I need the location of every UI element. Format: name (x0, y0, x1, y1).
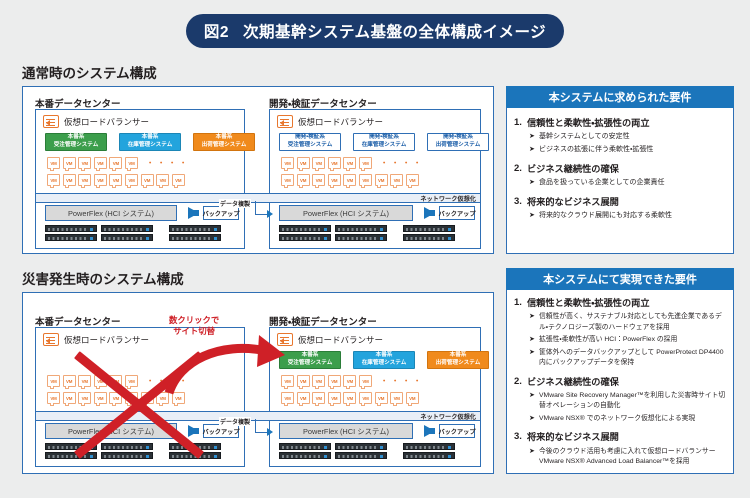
vm-instance: VM (281, 157, 294, 169)
requirement-subitem-text: 拡張性・柔軟性が高い HCI：PowerFlex の採用 (539, 335, 677, 346)
bullet-arrow-icon: ➤ (529, 178, 539, 189)
vm-instance: VM (281, 174, 294, 186)
requirement-subitem: ➤VMware Site Recovery Manager™を利用した災害時サイ… (527, 391, 726, 411)
section-heading-disaster: 災害発生時のシステム構成 (22, 268, 184, 288)
vm-instance: VM (406, 174, 419, 186)
load-balancer-icon (43, 333, 59, 346)
system-box-line2: 出荷管理システム (436, 142, 481, 150)
vm-instance: VM (156, 174, 169, 186)
server-rack-group (403, 225, 455, 241)
requirement-item: 1.信頼性と柔軟性・拡張性の両立➤基幹システムとしての安定性➤ビジネスの拡張に伴… (514, 117, 726, 156)
requirement-subitem: ➤信頼性が高く、サステナブル対応としても先進企業であるデル・テクノロジーズ製のハ… (527, 312, 726, 332)
vm-instance: VM (343, 392, 356, 404)
vm-instance: VM (312, 375, 325, 387)
server-rack-group (101, 443, 153, 459)
requirement-content: ビジネス継続性の確保➤VMware Site Recovery Manager™… (527, 376, 726, 425)
server-rack-unit (101, 452, 153, 459)
vm-instance: VM (63, 174, 76, 186)
vm-instance: VM (125, 392, 138, 404)
load-balancer-label: 仮想ロードバランサー (64, 116, 149, 128)
requirement-subitem-text: 筐体外へのデータバックアップとして PowerProtect DP4400 内に… (539, 348, 726, 368)
vm-instance: VM (297, 174, 310, 186)
achieved-requirements-heading: 本システムにて実現できた要件 (506, 268, 734, 290)
vm-overflow-dots: ・・・・ (380, 157, 424, 169)
load-balancer-label: 仮想ロードバランサー (298, 334, 383, 346)
server-rack-unit (403, 225, 455, 232)
vm-row: VMVMVMVMVMVMVMVMVM (47, 174, 187, 186)
vm-instance: VM (109, 174, 122, 186)
vm-instance: VM (328, 174, 341, 186)
system-box: 本番系出荷管理システム (193, 133, 255, 151)
server-rack-group (101, 225, 153, 241)
system-box-line2: 受注管理システム (288, 142, 333, 150)
requirement-item: 3.将来的なビジネス展開➤今後のクラウド活用も考慮に入れて仮想ロードバランサー … (514, 431, 726, 467)
system-box-line2: 在庫管理システム (362, 360, 407, 368)
requirement-item: 1.信頼性と柔軟性・拡張性の両立➤信頼性が高く、サステナブル対応としても先進企業… (514, 297, 726, 369)
system-box-line1: 開発・検証系 (295, 134, 325, 142)
data-replication-label: データ複製 (219, 199, 251, 208)
vm-instance: VM (78, 174, 91, 186)
server-rack-unit (169, 225, 221, 232)
data-replication-line (255, 419, 256, 433)
data-replication-label: データ複製 (219, 417, 251, 426)
vm-instance: VM (312, 157, 325, 169)
server-rack-unit (279, 234, 331, 241)
system-box: 開発・検証系受注管理システム (279, 133, 341, 151)
hci-box: PowerFlex (HCI システム) (279, 205, 413, 221)
server-rack-unit (169, 234, 221, 241)
vm-instance: VM (328, 392, 341, 404)
server-rack-group (279, 225, 331, 241)
requirement-item: 2.ビジネス継続性の確保➤食品を扱っている企業としての企業責任 (514, 163, 726, 189)
server-rack-unit (169, 452, 221, 459)
backup-arrow-icon (188, 207, 199, 219)
load-balancer-row: 仮想ロードバランサー (43, 115, 149, 128)
required-requirements-body: 1.信頼性と柔軟性・拡張性の両立➤基幹システムとしての安定性➤ビジネスの拡張に伴… (506, 108, 734, 254)
server-rack-group (335, 225, 387, 241)
requirement-number: 3. (514, 196, 527, 222)
requirement-subitem: ➤拡張性・柔軟性が高い HCI：PowerFlex の採用 (527, 335, 726, 346)
requirement-subitem-text: VMware Site Recovery Manager™を利用した災害時サイト… (539, 391, 726, 411)
vm-instance: VM (109, 375, 122, 387)
system-box-line1: 本番系 (216, 134, 233, 142)
load-balancer-label: 仮想ロードバランサー (298, 116, 383, 128)
backup-box: バックアップ (203, 424, 239, 438)
system-boxes-row: 開発・検証系受注管理システム開発・検証系在庫管理システム開発・検証系出荷管理シス… (279, 133, 489, 151)
vm-instance: VM (312, 392, 325, 404)
server-rack-unit (45, 225, 97, 232)
requirement-item: 3.将来的なビジネス展開➤将来的なクラウド展開にも対応する柔軟性 (514, 196, 726, 222)
vm-instance: VM (343, 174, 356, 186)
disaster-configuration-diagram: 本番データセンター仮想ロードバランサーVMVMVMVMVMVM・・・・VMVMV… (22, 292, 494, 474)
vm-overflow-dots: ・・・・ (380, 375, 424, 387)
vm-instance: VM (359, 174, 372, 186)
requirement-number: 1. (514, 117, 527, 156)
requirement-item: 2.ビジネス継続性の確保➤VMware Site Recovery Manage… (514, 376, 726, 425)
system-box-line1: 本番系 (450, 352, 467, 360)
vm-overflow-dots: ・・・・ (146, 157, 190, 169)
system-box-line2: 受注管理システム (54, 142, 99, 150)
load-balancer-icon (43, 115, 59, 128)
server-rack-unit (101, 225, 153, 232)
backup-box: バックアップ (439, 424, 475, 438)
requirement-subitem: ➤VMware NSX® でのネットワーク仮想化による実現 (527, 414, 726, 425)
vm-instance: VM (63, 392, 76, 404)
requirement-subitem-text: 信頼性が高く、サステナブル対応としても先進企業であるデル・テクノロジーズ製のハー… (539, 312, 726, 332)
system-box-line1: 開発・検証系 (369, 134, 399, 142)
system-box-line2: 出荷管理システム (436, 360, 481, 368)
required-requirements-heading: 本システムに求められた要件 (506, 86, 734, 108)
requirement-subitem-text: ビジネスの拡張に伴う柔軟性・拡張性 (539, 145, 653, 156)
vm-instance: VM (390, 174, 403, 186)
requirement-title: ビジネス継続性の確保 (527, 376, 726, 389)
requirement-subitem: ➤ビジネスの拡張に伴う柔軟性・拡張性 (527, 145, 726, 156)
vm-row: VMVMVMVMVMVM・・・・ (281, 375, 424, 387)
vm-instance: VM (406, 392, 419, 404)
server-rack-group (335, 443, 387, 459)
data-replication-arrow (267, 428, 273, 436)
vm-instance: VM (141, 174, 154, 186)
hci-box: PowerFlex (HCI システム) (279, 423, 413, 439)
system-box-line2: 受注管理システム (288, 360, 333, 368)
load-balancer-row: 仮想ロードバランサー (277, 115, 383, 128)
requirement-content: ビジネス継続性の確保➤食品を扱っている企業としての企業責任 (527, 163, 726, 189)
bullet-arrow-icon: ➤ (529, 447, 539, 467)
spacer (514, 224, 726, 229)
data-replication-arrow (267, 210, 273, 218)
vm-instance: VM (297, 392, 310, 404)
backup-box: バックアップ (439, 206, 475, 220)
requirement-subitem: ➤将来的なクラウド展開にも対応する柔軟性 (527, 211, 726, 222)
server-rack-group (45, 225, 97, 241)
system-box-line1: 本番系 (376, 352, 393, 360)
requirement-subitem: ➤今後のクラウド活用も考慮に入れて仮想ロードバランサー VMware NSX® … (527, 447, 726, 467)
bullet-arrow-icon: ➤ (529, 132, 539, 143)
vm-instance: VM (359, 392, 372, 404)
server-racks (45, 443, 221, 459)
vm-instance: VM (390, 392, 403, 404)
vm-instance: VM (328, 157, 341, 169)
server-rack-unit (403, 452, 455, 459)
required-requirements-panel: 本システムに求められた要件 1.信頼性と柔軟性・拡張性の両立➤基幹システムとして… (506, 86, 734, 254)
site-switch-arrow-icon (163, 331, 293, 395)
datacenter-title: 本番データセンター (35, 314, 121, 328)
vm-row: VMVMVMVMVMVM・・・・ (47, 157, 190, 169)
system-box-line1: 本番系 (68, 134, 85, 142)
requirement-title: 信頼性と柔軟性・拡張性の両立 (527, 117, 726, 130)
vm-instance: VM (375, 392, 388, 404)
backup-arrow-icon (424, 425, 435, 437)
achieved-requirements-panel: 本システムにて実現できた要件 1.信頼性と柔軟性・拡張性の両立➤信頼性が高く、サ… (506, 268, 734, 474)
system-box: 開発・検証系在庫管理システム (353, 133, 415, 151)
vm-row: VMVMVMVMVMVM・・・・ (281, 157, 424, 169)
vm-instance: VM (141, 392, 154, 404)
bullet-arrow-icon: ➤ (529, 145, 539, 156)
vm-instance: VM (47, 157, 60, 169)
server-rack-unit (279, 452, 331, 459)
datacenter-title: 開発・検証データセンター (269, 314, 377, 328)
requirement-subitem: ➤筐体外へのデータバックアップとして PowerProtect DP4400 内… (527, 348, 726, 368)
vm-instance: VM (47, 375, 60, 387)
system-box: 本番系在庫管理システム (353, 351, 415, 369)
server-rack-unit (45, 452, 97, 459)
system-box: 本番系出荷管理システム (427, 351, 489, 369)
requirement-content: 信頼性と柔軟性・拡張性の両立➤信頼性が高く、サステナブル対応としても先進企業であ… (527, 297, 726, 369)
bullet-arrow-icon: ➤ (529, 348, 539, 368)
bullet-arrow-icon: ➤ (529, 211, 539, 222)
bullet-arrow-icon: ➤ (529, 391, 539, 411)
system-boxes-row: 本番系受注管理システム本番系在庫管理システム本番系出荷管理システム (45, 133, 255, 151)
vm-instance: VM (343, 157, 356, 169)
requirement-number: 2. (514, 376, 527, 425)
requirement-subitem: ➤食品を扱っている企業としての企業責任 (527, 178, 726, 189)
figure-number: 図2 (204, 20, 229, 42)
server-rack-unit (403, 443, 455, 450)
data-replication-line (255, 201, 256, 215)
system-boxes-row: 本番系受注管理システム本番系在庫管理システム本番系出荷管理システム (279, 351, 489, 369)
vm-instance: VM (328, 375, 341, 387)
requirement-content: 将来的なビジネス展開➤将来的なクラウド展開にも対応する柔軟性 (527, 196, 726, 222)
vm-instance: VM (63, 157, 76, 169)
figure-title: 次期基幹システム基盤の全体構成イメージ (243, 20, 546, 42)
server-rack-unit (169, 443, 221, 450)
load-balancer-icon (277, 115, 293, 128)
normal-configuration-diagram: 本番データセンター仮想ロードバランサー本番系受注管理システム本番系在庫管理システ… (22, 86, 494, 254)
vm-instance: VM (94, 392, 107, 404)
vm-instance: VM (297, 375, 310, 387)
bullet-arrow-icon: ➤ (529, 335, 539, 346)
server-rack-group (45, 443, 97, 459)
vm-instance: VM (125, 375, 138, 387)
vm-instance: VM (297, 157, 310, 169)
load-balancer-label: 仮想ロードバランサー (64, 334, 149, 346)
requirement-title: ビジネス継続性の確保 (527, 163, 726, 176)
network-virtualization-bar: ネットワーク仮想化 (35, 411, 481, 421)
vm-instance: VM (47, 174, 60, 186)
server-rack-unit (335, 443, 387, 450)
vm-instance: VM (343, 375, 356, 387)
server-rack-unit (403, 234, 455, 241)
requirement-subitem-text: 基幹システムとしての安定性 (539, 132, 630, 143)
requirement-subitem-text: 今後のクラウド活用も考慮に入れて仮想ロードバランサー VMware NSX® A… (539, 447, 726, 467)
network-virtualization-bar: ネットワーク仮想化 (35, 193, 481, 203)
achieved-requirements-body: 1.信頼性と柔軟性・拡張性の両立➤信頼性が高く、サステナブル対応としても先進企業… (506, 290, 734, 474)
vm-instance: VM (94, 157, 107, 169)
backup-box: バックアップ (203, 206, 239, 220)
server-rack-group (403, 443, 455, 459)
system-box-line2: 出荷管理システム (202, 142, 247, 150)
server-rack-unit (279, 225, 331, 232)
system-box-line2: 在庫管理システム (362, 142, 407, 150)
requirement-content: 信頼性と柔軟性・拡張性の両立➤基幹システムとしての安定性➤ビジネスの拡張に伴う柔… (527, 117, 726, 156)
spacer (514, 469, 726, 474)
requirement-title: 信頼性と柔軟性・拡張性の両立 (527, 297, 726, 310)
server-rack-unit (101, 234, 153, 241)
hci-box: PowerFlex (HCI システム) (45, 423, 177, 439)
vm-instance: VM (125, 157, 138, 169)
vm-row: VMVMVMVMVMVMVMVMVM (281, 174, 421, 186)
vm-instance: VM (47, 392, 60, 404)
vm-instance: VM (375, 174, 388, 186)
server-rack-group (169, 225, 221, 241)
section-heading-normal: 通常時のシステム構成 (22, 62, 157, 82)
vm-instance: VM (78, 157, 91, 169)
requirement-content: 将来的なビジネス展開➤今後のクラウド活用も考慮に入れて仮想ロードバランサー VM… (527, 431, 726, 467)
server-rack-unit (45, 443, 97, 450)
requirement-subitem-text: VMware NSX® でのネットワーク仮想化による実現 (539, 414, 695, 425)
server-rack-group (169, 443, 221, 459)
system-box: 本番系受注管理システム (45, 133, 107, 151)
datacenter-title: 本番データセンター (35, 96, 121, 110)
vm-instance: VM (172, 174, 185, 186)
vm-instance: VM (94, 174, 107, 186)
requirement-number: 3. (514, 431, 527, 467)
server-rack-unit (335, 225, 387, 232)
requirement-title: 将来的なビジネス展開 (527, 431, 726, 444)
vm-instance: VM (359, 375, 372, 387)
system-box-line2: 在庫管理システム (128, 142, 173, 150)
load-balancer-row: 仮想ロードバランサー (43, 333, 149, 346)
bullet-arrow-icon: ➤ (529, 414, 539, 425)
server-rack-unit (279, 443, 331, 450)
server-rack-unit (101, 443, 153, 450)
backup-arrow-icon (424, 207, 435, 219)
server-rack-group (279, 443, 331, 459)
system-box: 開発・検証系出荷管理システム (427, 133, 489, 151)
vm-instance: VM (63, 375, 76, 387)
requirement-subitem-text: 将来的なクラウド展開にも対応する柔軟性 (539, 211, 672, 222)
vm-row: VMVMVMVMVMVMVMVMVM (281, 392, 421, 404)
server-racks (279, 443, 455, 459)
site-switch-annotation-line1: 数クリックで (169, 315, 219, 326)
requirement-subitem-text: 食品を扱っている企業としての企業責任 (539, 178, 664, 189)
vm-instance: VM (94, 375, 107, 387)
system-box-line1: 開発・検証系 (443, 134, 473, 142)
vm-instance: VM (109, 157, 122, 169)
requirement-subitem: ➤基幹システムとしての安定性 (527, 132, 726, 143)
vm-instance: VM (359, 157, 372, 169)
server-racks (45, 225, 221, 241)
datacenter-title: 開発・検証データセンター (269, 96, 377, 110)
bullet-arrow-icon: ➤ (529, 312, 539, 332)
backup-arrow-icon (188, 425, 199, 437)
server-rack-unit (45, 234, 97, 241)
vm-instance: VM (78, 375, 91, 387)
requirement-title: 将来的なビジネス展開 (527, 196, 726, 209)
requirement-number: 2. (514, 163, 527, 189)
figure-page: 図2 次期基幹システム基盤の全体構成イメージ 通常時のシステム構成 本番データセ… (0, 0, 750, 498)
system-box-line1: 本番系 (302, 352, 319, 360)
figure-title-pill: 図2 次期基幹システム基盤の全体構成イメージ (186, 14, 564, 48)
system-box: 本番系在庫管理システム (119, 133, 181, 151)
vm-instance: VM (109, 392, 122, 404)
vm-instance: VM (125, 174, 138, 186)
requirement-number: 1. (514, 297, 527, 369)
server-racks (279, 225, 455, 241)
system-box-line1: 本番系 (142, 134, 159, 142)
hci-box: PowerFlex (HCI システム) (45, 205, 177, 221)
vm-instance: VM (78, 392, 91, 404)
server-rack-unit (335, 234, 387, 241)
server-rack-unit (335, 452, 387, 459)
vm-instance: VM (312, 174, 325, 186)
